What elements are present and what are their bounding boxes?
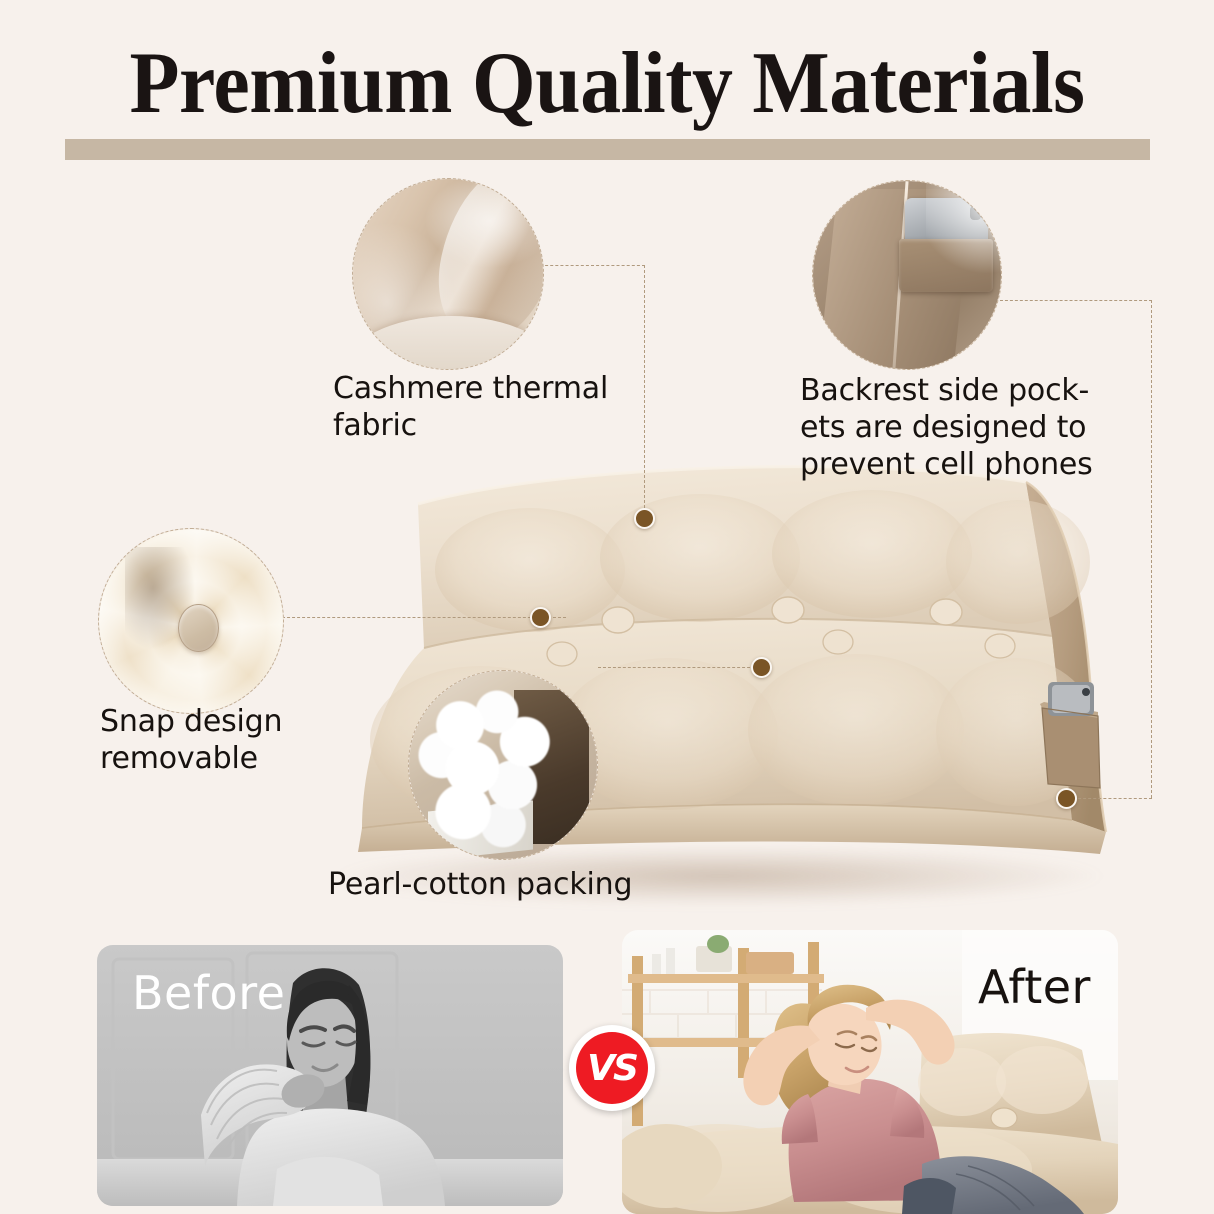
callout-cashmere-line2: fabric	[333, 407, 663, 444]
inset-snap-button	[98, 528, 284, 714]
callout-cashmere-line1: Cashmere thermal	[333, 370, 663, 407]
side-pocket-phone-photo	[813, 181, 1001, 369]
connector-cashmere-h	[540, 265, 645, 266]
connector-pocket-v	[1151, 300, 1152, 798]
connector-pocket-h1	[995, 300, 1152, 301]
marker-dot-cotton	[751, 657, 772, 678]
marker-dot-snap	[530, 607, 551, 628]
vs-badge: VS	[569, 1025, 655, 1111]
callout-cotton: Pearl-cotton packing	[328, 866, 748, 903]
callout-snap-line2: removable	[100, 740, 390, 777]
inset-pearl-cotton	[408, 670, 598, 860]
pearl-cotton-fill-photo	[409, 671, 597, 859]
connector-snap-h	[272, 617, 566, 618]
before-label: Before	[132, 968, 285, 1018]
marker-dot-cashmere	[634, 508, 655, 529]
callout-snap-line1: Snap design	[100, 703, 390, 740]
vs-label: VS	[576, 1032, 648, 1104]
connector-pocket-h2	[1078, 798, 1152, 799]
snap-button-photo	[99, 529, 283, 713]
callout-pocket-line2: ets are designed to	[800, 409, 1140, 446]
callout-pocket-line3: prevent cell phones	[800, 446, 1140, 483]
cotton-fluff	[417, 682, 571, 847]
callout-snap: Snap design removable	[100, 703, 390, 777]
after-label: After	[978, 962, 1091, 1012]
pocket-highlight	[926, 180, 1002, 286]
inset-cashmere-fabric	[352, 178, 544, 370]
inset-side-pocket	[812, 180, 1002, 370]
callout-pocket-line1: Backrest side pock-	[800, 372, 1140, 409]
fabric-swatch-photo	[353, 179, 543, 369]
infographic-canvas: Premium Quality Materials	[0, 0, 1214, 1214]
marker-dot-pocket	[1056, 788, 1077, 809]
callout-pocket: Backrest side pock- ets are designed to …	[800, 372, 1140, 483]
connector-cotton-h	[598, 667, 760, 668]
title-underline-bar	[65, 139, 1150, 160]
snap-fastener	[178, 604, 218, 652]
callout-cashmere: Cashmere thermal fabric	[333, 370, 663, 444]
page-title: Premium Quality Materials	[42, 38, 1171, 130]
